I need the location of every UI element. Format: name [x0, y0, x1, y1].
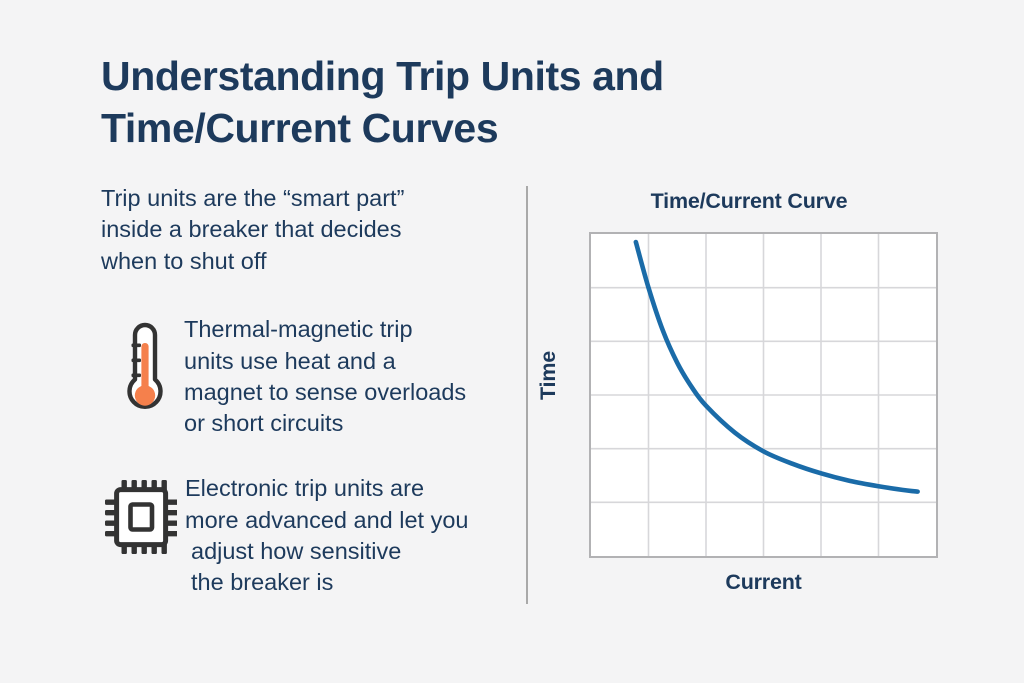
bullet-electronic-line-1: Electronic trip units are	[185, 473, 521, 504]
bullet-electronic-text: Electronic trip units are more advanced …	[185, 473, 521, 598]
infographic-canvas: Understanding Trip Units and Time/Curren…	[0, 0, 1024, 683]
chart-series-group	[636, 242, 918, 492]
intro-line-1: Trip units are the “smart part”	[101, 183, 501, 214]
chart-title: Time/Current Curve	[589, 189, 909, 214]
left-content-column: Trip units are the “smart part” inside a…	[101, 183, 521, 598]
bullet-electronic-line-4: the breaker is	[185, 567, 521, 598]
bullet-thermal-line-2: units use heat and a	[184, 346, 521, 377]
chart-gridlines	[591, 234, 936, 556]
chart-plot-area	[589, 232, 938, 558]
bullet-electronic: Electronic trip units are more advanced …	[103, 473, 521, 598]
y-axis-label: Time	[536, 351, 561, 400]
intro-paragraph: Trip units are the “smart part” inside a…	[101, 183, 501, 277]
intro-line-3: when to shut off	[101, 246, 501, 277]
bullet-thermal-magnetic: Thermal-magnetic trip units use heat and…	[117, 314, 521, 439]
bullet-thermal-line-4: or short circuits	[184, 408, 521, 439]
chart-plot-svg	[591, 234, 936, 556]
time-current-curve-chart: Time/Current Curve Time Current	[540, 185, 960, 605]
page-title: Understanding Trip Units and Time/Curren…	[101, 50, 801, 155]
bullet-thermal-line-3: magnet to sense overloads	[184, 377, 521, 408]
x-axis-label: Current	[589, 570, 938, 595]
page-title-line-2: Time/Current Curves	[101, 102, 801, 154]
microchip-icon	[103, 477, 177, 557]
intro-line-2: inside a breaker that decides	[101, 214, 501, 245]
bullet-electronic-line-3: adjust how sensitive	[185, 536, 521, 567]
chart-series-line	[636, 242, 918, 492]
page-title-line-1: Understanding Trip Units and	[101, 50, 801, 102]
section-divider	[526, 186, 528, 604]
bullet-electronic-line-2: more advanced and let you	[185, 505, 521, 536]
thermometer-icon	[117, 317, 173, 421]
bullet-thermal-line-1: Thermal-magnetic trip	[184, 314, 521, 345]
bullet-thermal-magnetic-text: Thermal-magnetic trip units use heat and…	[184, 314, 521, 439]
